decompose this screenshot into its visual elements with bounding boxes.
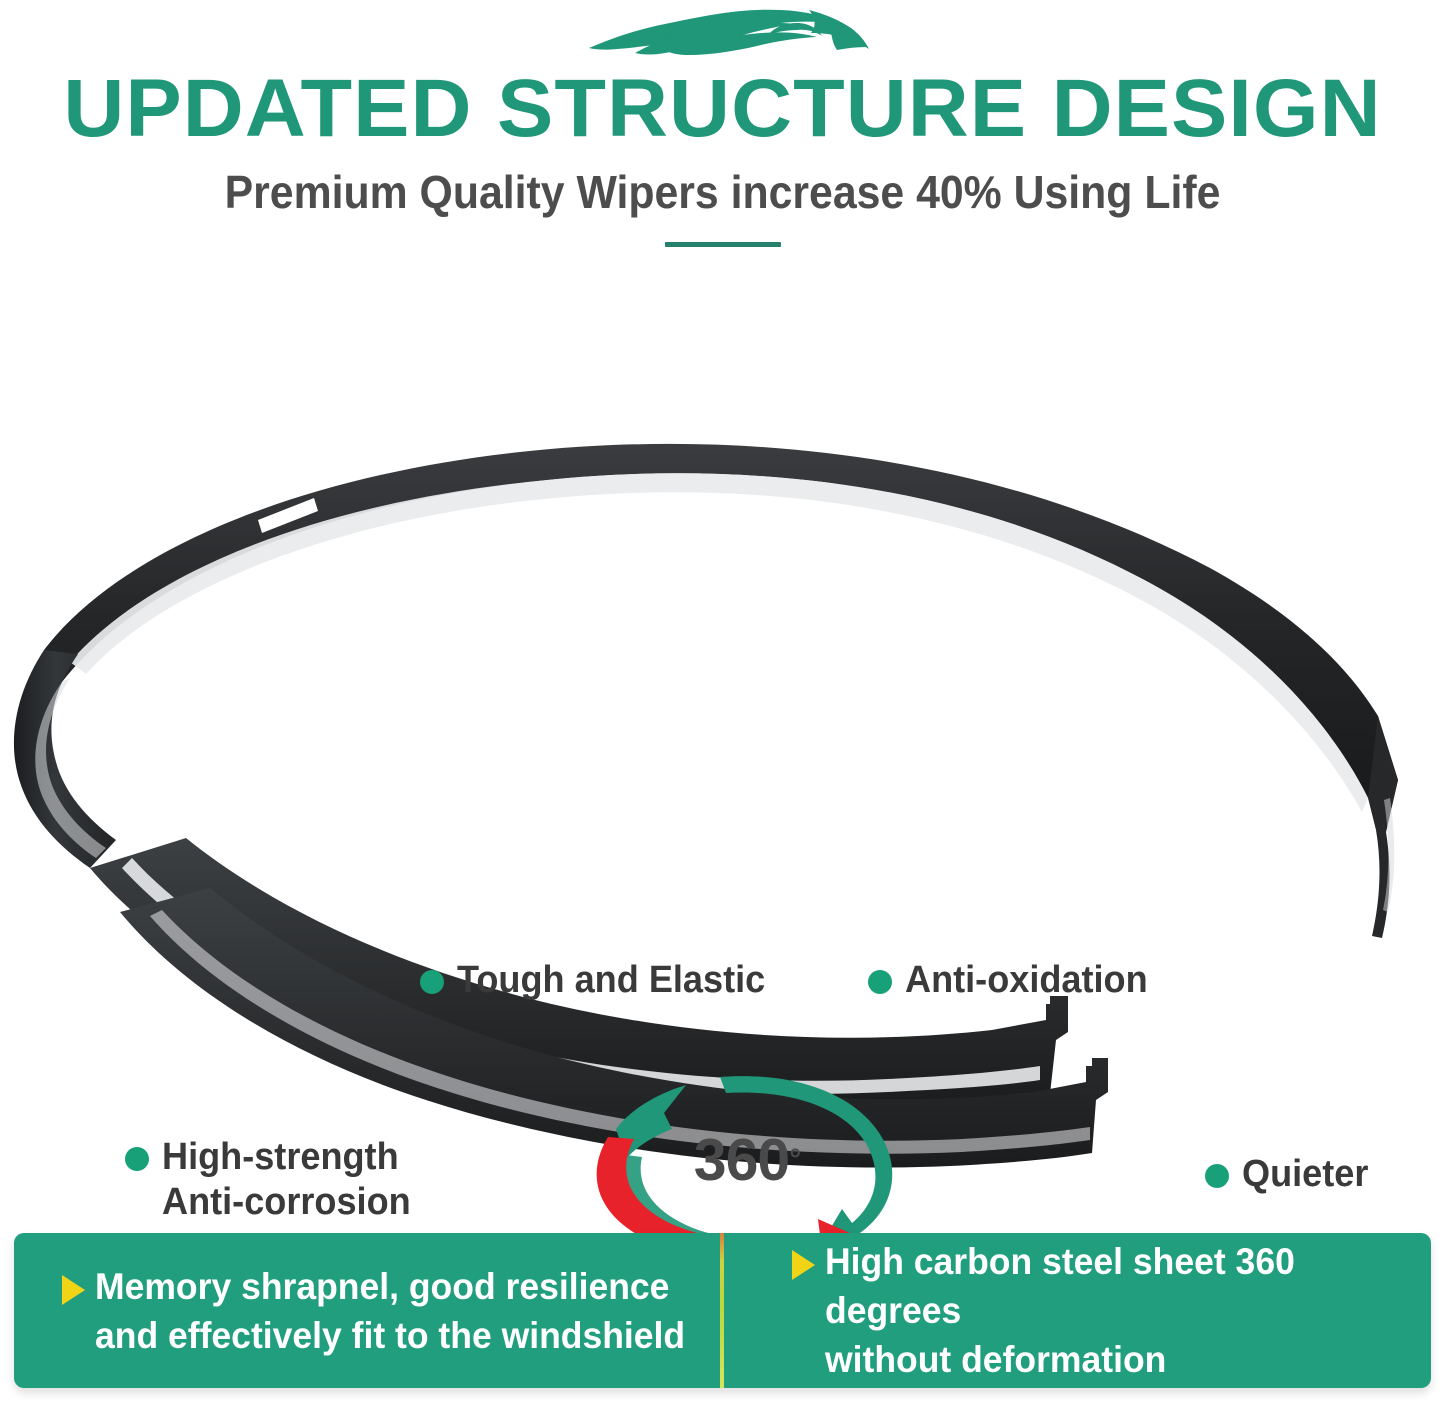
page-subtitle: Premium Quality Wipers increase 40% Usin… bbox=[51, 164, 1395, 220]
feature-label: Tough and Elastic bbox=[457, 958, 765, 1003]
green-dot-icon bbox=[420, 970, 444, 994]
feature-label: High-strength Anti-corrosion bbox=[162, 1135, 411, 1225]
banner-line1: Memory shrapnel, good resilience bbox=[95, 1266, 669, 1307]
bottom-feature-banner: Memory shrapnel, good resilience and eff… bbox=[14, 1233, 1431, 1388]
title-divider bbox=[665, 242, 781, 247]
banner-line1: High carbon steel sheet 360 degrees bbox=[825, 1241, 1295, 1331]
car-silhouette-icon bbox=[573, 4, 873, 62]
feature-label: Anti-oxidation bbox=[905, 958, 1148, 1003]
banner-cell-high-carbon-steel: High carbon steel sheet 360 degrees with… bbox=[724, 1233, 1431, 1388]
yellow-triangle-icon bbox=[792, 1250, 815, 1280]
feature-callout-high-strength: High-strength Anti-corrosion bbox=[125, 1135, 424, 1225]
badge-number: 360 bbox=[694, 1126, 789, 1194]
page-title: UPDATED STRUCTURE DESIGN bbox=[0, 66, 1445, 152]
feature-callout-quieter: Quieter bbox=[1205, 1152, 1375, 1197]
banner-line2: and effectively fit to the windshield bbox=[95, 1315, 685, 1356]
header: UPDATED STRUCTURE DESIGN Premium Quality… bbox=[0, 0, 1445, 247]
yellow-triangle-icon bbox=[62, 1275, 85, 1305]
banner-text: Memory shrapnel, good resilience and eff… bbox=[95, 1262, 685, 1360]
green-dot-icon bbox=[125, 1147, 149, 1171]
feature-callout-tough-and-elastic: Tough and Elastic bbox=[420, 958, 781, 1003]
feature-callout-anti-oxidation: Anti-oxidation bbox=[868, 958, 1160, 1003]
green-dot-icon bbox=[868, 970, 892, 994]
feature-label: Quieter bbox=[1242, 1152, 1368, 1197]
product-image-area: High-strength Anti-corrosion Tough and E… bbox=[0, 400, 1445, 1190]
feature-label-line1: High-strength bbox=[162, 1136, 399, 1178]
banner-cell-memory-shrapnel: Memory shrapnel, good resilience and eff… bbox=[14, 1233, 720, 1388]
banner-text: High carbon steel sheet 360 degrees with… bbox=[825, 1237, 1406, 1384]
green-dot-icon bbox=[1205, 1164, 1229, 1188]
feature-label-line2: Anti-corrosion bbox=[162, 1181, 411, 1223]
banner-line2: without deformation bbox=[825, 1339, 1166, 1380]
